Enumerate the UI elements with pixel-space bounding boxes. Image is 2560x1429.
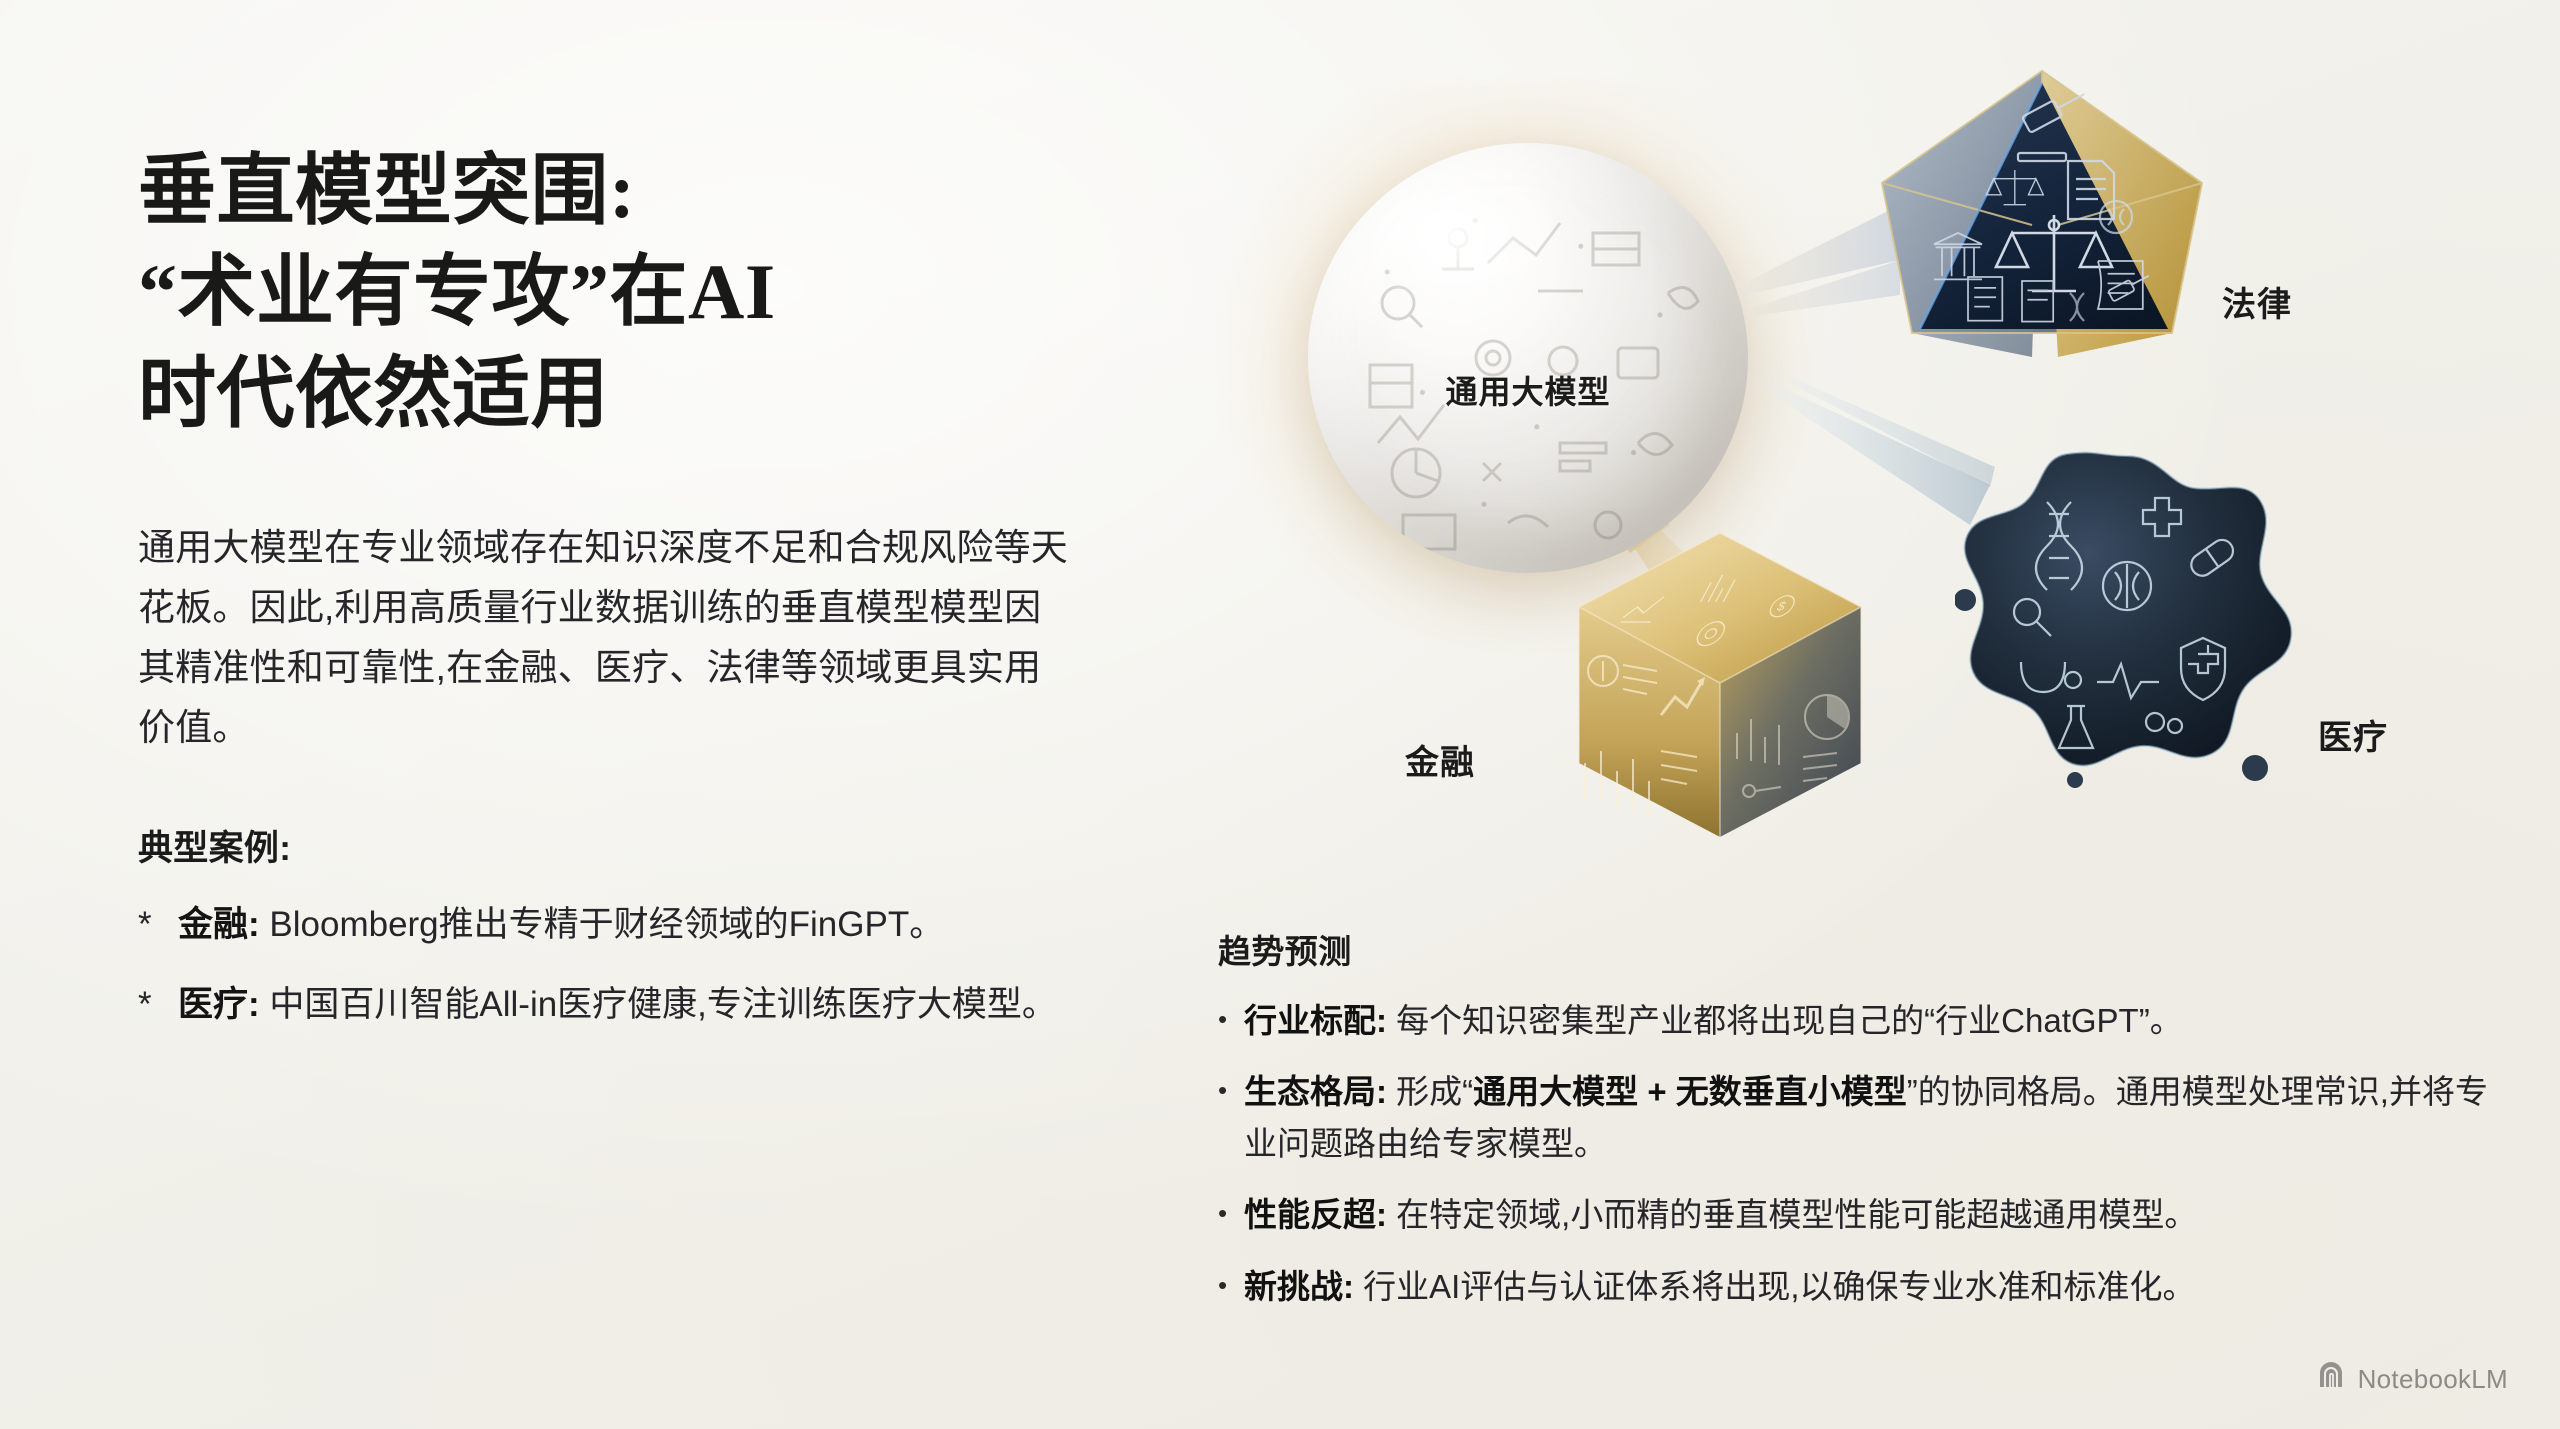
case-detail: 中国百川智能All-in医疗健康,专注训练医疗大模型。 — [269, 985, 1057, 1024]
bullet-dot-icon: • — [1218, 1066, 1244, 1169]
trend-list: • 行业标配: 每个知识密集型产业都将出现自己的“行业ChatGPT”。 • 生… — [1218, 995, 2508, 1312]
notebooklm-watermark: NotebookLM — [2316, 1362, 2508, 1397]
medical-blob-icon — [1955, 450, 2300, 790]
medical-blob — [1955, 450, 2300, 790]
bullet-dot-icon: • — [1218, 1261, 1244, 1312]
orb-specular-highlight — [1370, 182, 1572, 311]
list-item: • 新挑战: 行业AI评估与认证体系将出现,以确保专业水准和标准化。 — [1218, 1261, 2508, 1312]
trend-text: 行业标配: 每个知识密集型产业都将出现自己的“行业ChatGPT”。 — [1244, 995, 2508, 1046]
trend-label: 性能反超: — [1244, 1196, 1387, 1233]
list-item: • 生态格局: 形成“通用大模型 + 无数垂直小模型”的协同格局。通用模型处理常… — [1218, 1066, 2508, 1169]
trend-detail: 在特定领域,小而精的垂直模型性能可能超越通用模型。 — [1396, 1196, 2197, 1233]
notebooklm-label: NotebookLM — [2358, 1364, 2508, 1395]
case-text: 医疗: 中国百川智能All-in医疗健康,专注训练医疗大模型。 — [178, 979, 1098, 1032]
trend-text: 性能反超: 在特定领域,小而精的垂直模型性能可能超越通用模型。 — [1244, 1189, 2508, 1240]
orb-label: 通用大模型 — [1308, 367, 1748, 413]
legal-polyhedron — [1872, 65, 2212, 385]
trend-heading: 趋势预测 — [1218, 925, 2508, 973]
list-item: * 金融: Bloomberg推出专精于财经领域的FinGPT。 — [138, 899, 1098, 952]
trend-detail: 每个知识密集型产业都将出现自己的“行业ChatGPT”。 — [1396, 1002, 2183, 1039]
trend-label: 生态格局: — [1244, 1073, 1387, 1110]
asterisk-bullet-icon: * — [138, 979, 178, 1032]
title-line-2: “术业有专攻”在AI — [138, 241, 1098, 342]
trend-detail: 行业AI评估与认证体系将出现,以确保专业水准和标准化。 — [1363, 1268, 2195, 1305]
finance-cube-icon: $ — [1565, 525, 1875, 845]
bullet-dot-icon: • — [1218, 995, 1244, 1046]
list-item: • 行业标配: 每个知识密集型产业都将出现自己的“行业ChatGPT”。 — [1218, 995, 2508, 1046]
finance-node-label: 金融 — [1405, 735, 1475, 784]
list-item: * 医疗: 中国百川智能All-in医疗健康,专注训练医疗大模型。 — [138, 979, 1098, 1032]
case-studies-list: * 金融: Bloomberg推出专精于财经领域的FinGPT。 * 医疗: 中… — [138, 899, 1098, 1032]
lede-paragraph: 通用大模型在专业领域存在知识深度不足和合规风险等天花板。因此,利用高质量行业数据… — [138, 518, 1068, 758]
list-item: • 性能反超: 在特定领域,小而精的垂直模型性能可能超越通用模型。 — [1218, 1189, 2508, 1240]
page-title: 垂直模型突围: “术业有专攻”在AI 时代依然适用 — [138, 140, 1098, 444]
legal-polyhedron-icon — [1872, 65, 2212, 385]
case-detail: Bloomberg推出专精于财经领域的FinGPT。 — [269, 905, 944, 944]
trend-label: 行业标配: — [1244, 1002, 1387, 1039]
case-label: 医疗: — [178, 985, 260, 1024]
left-content-column: 垂直模型突围: “术业有专攻”在AI 时代依然适用 通用大模型在专业领域存在知识… — [138, 140, 1098, 1032]
trend-forecast-section: 趋势预测 • 行业标配: 每个知识密集型产业都将出现自己的“行业ChatGPT”… — [1218, 925, 2508, 1332]
trend-detail-emphasis: 通用大模型 + 无数垂直小模型 — [1473, 1073, 1907, 1110]
bullet-dot-icon: • — [1218, 1189, 1244, 1240]
concept-illustration: 通用大模型 — [1200, 55, 2530, 900]
title-line-1: 垂直模型突围: — [138, 140, 1098, 241]
title-line-3: 时代依然适用 — [138, 343, 1098, 444]
trend-detail-a: 形成“ — [1396, 1073, 1473, 1110]
asterisk-bullet-icon: * — [138, 899, 178, 952]
general-model-orb: 通用大模型 — [1308, 143, 1748, 573]
case-text: 金融: Bloomberg推出专精于财经领域的FinGPT。 — [178, 899, 1098, 952]
medical-node-label: 医疗 — [2318, 710, 2388, 759]
notebooklm-spiral-icon — [2316, 1362, 2346, 1397]
finance-cube: $ — [1565, 525, 1875, 845]
trend-text: 新挑战: 行业AI评估与认证体系将出现,以确保专业水准和标准化。 — [1244, 1261, 2508, 1312]
case-label: 金融: — [178, 905, 260, 944]
trend-label: 新挑战: — [1244, 1268, 1354, 1305]
legal-node-label: 法律 — [2222, 277, 2292, 326]
case-studies-heading: 典型案例: — [138, 820, 1098, 871]
trend-text: 生态格局: 形成“通用大模型 + 无数垂直小模型”的协同格局。通用模型处理常识,… — [1244, 1066, 2508, 1169]
